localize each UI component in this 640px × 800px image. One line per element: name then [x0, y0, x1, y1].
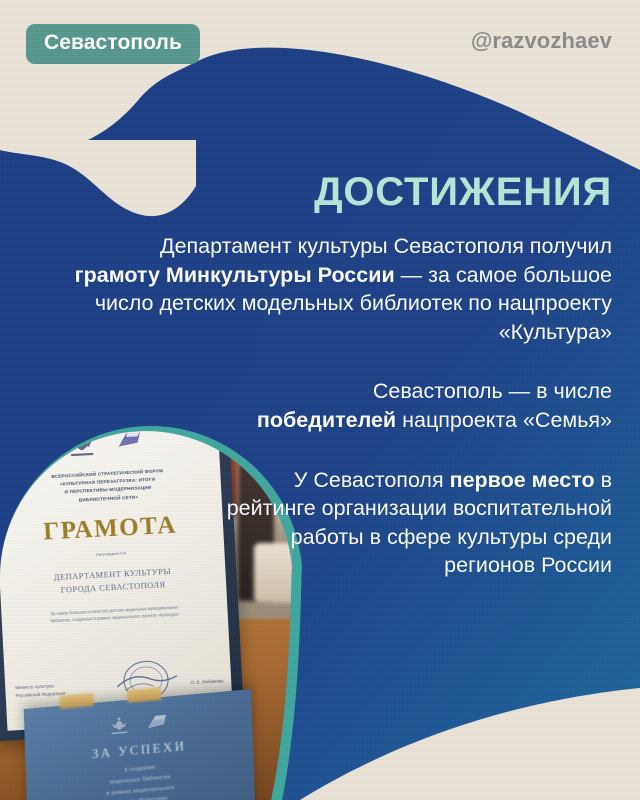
author-handle[interactable]: @razvozhaev [471, 28, 612, 54]
folder-clasp-left [59, 693, 93, 709]
page-title: ДОСТИЖЕНИЯ [314, 171, 612, 213]
social-post-card: ВСЕРОССИЙСКИЙ СТРАТЕГИЧЕСКИЙ ФОРУМ«КУЛЬТ… [0, 0, 640, 800]
folder-clasp-right [127, 687, 161, 703]
certificate-reason: За самое большое количество детских моде… [15, 601, 214, 626]
folder-book-logo-icon [142, 711, 169, 733]
award-folder: ЗА УСПЕХИ в созданиимодельных библиотекв… [24, 689, 257, 800]
folder-coat-of-arms-icon [107, 715, 130, 737]
certificate-signature-title: Министр культурыРоссийской Федерации [15, 682, 66, 700]
region-badge[interactable]: Севастополь [26, 24, 200, 64]
certificate-signer-name: О. Б. Любимова [191, 678, 224, 685]
paragraph-2: Севастополь — в числе победителей нацпро… [72, 377, 612, 434]
paragraph-3: У Севастополя первое место в рейтинге ор… [72, 466, 612, 580]
body-text: Департамент культуры Севастополя получил… [72, 232, 612, 580]
paragraph-1: Департамент культуры Севастополя получил… [72, 232, 612, 346]
